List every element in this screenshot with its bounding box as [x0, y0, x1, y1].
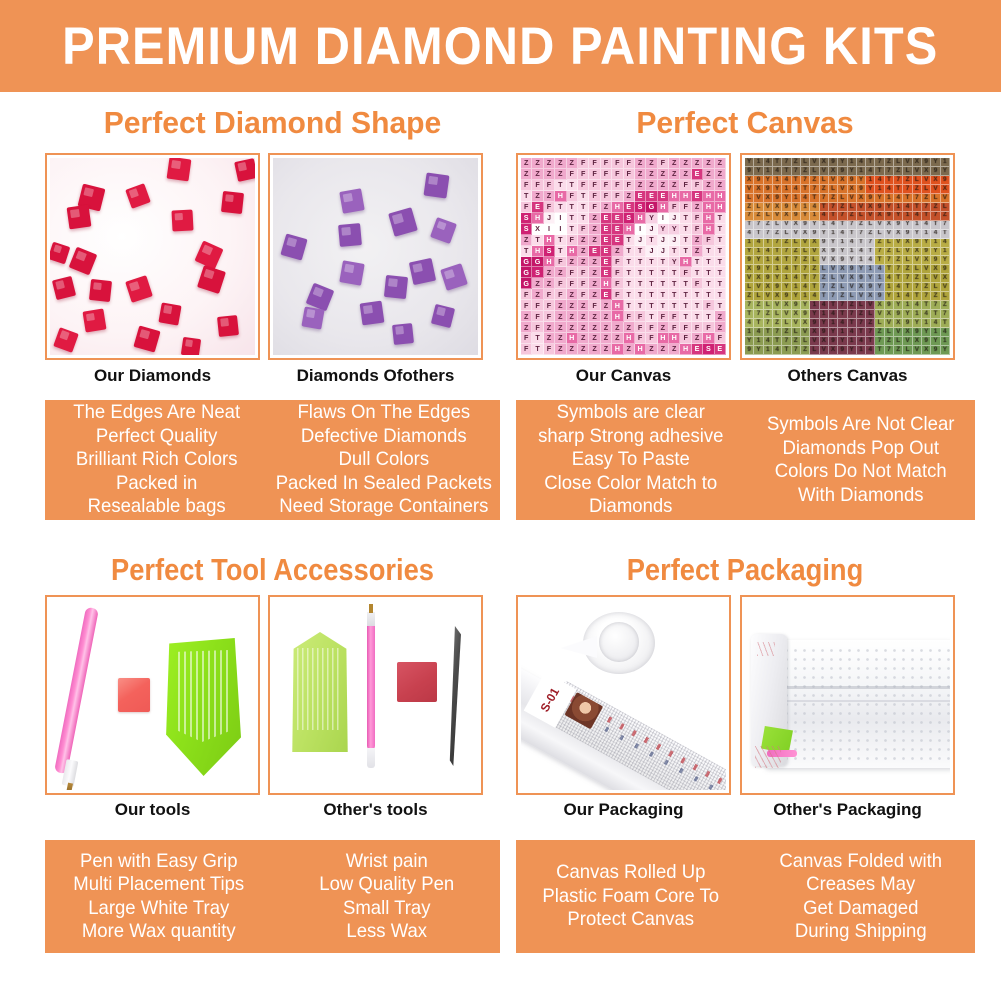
canvas-symbol-cell: 4 — [764, 158, 773, 167]
canvas-symbol-cell: F — [635, 322, 646, 333]
canvas-symbol-cell: F — [578, 224, 589, 235]
canvas-symbol-cell: Z — [555, 158, 566, 169]
canvas-symbol-cell: L — [931, 283, 940, 292]
canvas-symbol-cell: 1 — [894, 203, 903, 212]
canvas-symbol-cell: Z — [567, 344, 578, 355]
canvas-symbol-cell: Z — [838, 292, 847, 301]
canvas-symbol-cell: Z — [773, 230, 782, 239]
canvas-symbol-cell: H — [669, 191, 680, 202]
canvas-symbol-cell: 7 — [913, 194, 922, 203]
canvas-symbol-cell: X — [903, 328, 912, 337]
canvas-symbol-cell: S — [532, 267, 543, 278]
canvas-symbol-cell: H — [669, 333, 680, 344]
canvas-symbol-cell: F — [601, 191, 612, 202]
canvas-symbol-cell: T — [782, 167, 791, 176]
canvas-symbol-cell: Z — [764, 310, 773, 319]
canvas-symbol-cell: 7 — [810, 274, 819, 283]
canvas-symbol-cell: T — [680, 311, 691, 322]
canvas-symbol-cell: L — [801, 158, 810, 167]
canvas-symbol-cell: 9 — [903, 319, 912, 328]
canvas-symbol-cell: T — [715, 267, 726, 278]
panel-column-ours: Pen with Easy GripMulti Placement TipsLa… — [51, 840, 267, 953]
diamond-drill — [301, 306, 324, 329]
canvas-symbol-cell: 9 — [875, 203, 884, 212]
canvas-symbol-cell: L — [848, 292, 857, 301]
canvas-symbol-cell: Z — [532, 289, 543, 300]
canvas-symbol-cell: 1 — [838, 239, 847, 248]
canvas-symbol-cell: Z — [857, 310, 866, 319]
canvas-symbol-cell: T — [578, 202, 589, 213]
canvas-symbol-cell: 1 — [885, 283, 894, 292]
canvas-symbol-cell: Z — [692, 158, 703, 169]
canvas-symbol-cell: X — [754, 185, 763, 194]
canvas-symbol-cell: Y — [857, 265, 866, 274]
muddy-symbol-canvas-photo: Y14T7ZLVX9Y14T7ZLVX9Y19Y14T7ZLVX9Y14T7ZL… — [745, 158, 950, 355]
canvas-symbol-cell: Z — [820, 274, 829, 283]
canvas-symbol-cell: F — [658, 311, 669, 322]
canvas-symbol-cell: Z — [567, 257, 578, 268]
diamond-drill — [409, 258, 436, 285]
canvas-symbol-cell: Z — [555, 311, 566, 322]
canvas-symbol-cell: Y — [848, 256, 857, 265]
canvas-symbol-cell: 4 — [866, 346, 875, 355]
canvas-symbol-cell: T — [669, 300, 680, 311]
canvas-symbol-cell: 7 — [782, 158, 791, 167]
canvas-symbol-cell: Y — [764, 176, 773, 185]
canvas-symbol-cell: 4 — [931, 319, 940, 328]
canvas-symbol-cell: X — [913, 158, 922, 167]
canvas-symbol-cell: F — [646, 333, 657, 344]
canvas-symbol-cell: T — [745, 221, 754, 230]
canvas-symbol-cell: L — [754, 292, 763, 301]
canvas-symbol-cell: Z — [715, 169, 726, 180]
canvas-symbol-cell: 4 — [792, 274, 801, 283]
canvas-symbol-cell: Z — [820, 185, 829, 194]
canvas-symbol-cell: 7 — [922, 203, 931, 212]
canvas-symbol-cell: T — [848, 230, 857, 239]
canvas-symbol-cell: L — [903, 346, 912, 355]
canvas-symbol-cell: F — [521, 289, 532, 300]
canvas-symbol-cell: T — [829, 301, 838, 310]
canvas-symbol-cell: 7 — [941, 221, 950, 230]
canvas-symbol-cell: F — [635, 311, 646, 322]
canvas-symbol-cell: 4 — [848, 239, 857, 248]
canvas-symbol-cell: V — [903, 248, 912, 257]
canvas-symbol-cell: F — [521, 180, 532, 191]
canvas-symbol-cell: T — [680, 246, 691, 257]
canvas-symbol-cell: T — [782, 256, 791, 265]
canvas-symbol-cell: T — [941, 319, 950, 328]
canvas-symbol-cell: F — [624, 311, 635, 322]
canvas-symbol-cell: J — [635, 235, 646, 246]
canvas-symbol-cell: X — [829, 167, 838, 176]
canvas-symbol-cell: 9 — [810, 230, 819, 239]
canvas-symbol-cell: 9 — [866, 283, 875, 292]
canvas-symbol-cell: T — [866, 337, 875, 346]
canvas-symbol-cell: Z — [903, 265, 912, 274]
canvas-symbol-cell: V — [745, 185, 754, 194]
canvas-symbol-cell: G — [521, 257, 532, 268]
canvas-symbol-cell: Y — [754, 256, 763, 265]
canvas-symbol-cell: F — [567, 169, 578, 180]
canvas-symbol-cell: T — [567, 202, 578, 213]
canvas-symbol-cell: H — [567, 246, 578, 257]
canvas-symbol-cell: V — [866, 212, 875, 221]
canvas-symbol-cell: Z — [782, 328, 791, 337]
canvas-symbol-cell: F — [601, 180, 612, 191]
canvas-symbol-cell: 9 — [838, 167, 847, 176]
canvas-symbol-cell: 4 — [820, 301, 829, 310]
canvas-symbol-cell: 7 — [913, 283, 922, 292]
canvas-symbol-cell: G — [521, 267, 532, 278]
canvas-symbol-cell: 1 — [764, 346, 773, 355]
canvas-symbol-cell: E — [692, 169, 703, 180]
canvas-symbol-cell: V — [810, 248, 819, 257]
canvas-symbol-cell: T — [532, 344, 543, 355]
image-frame-our-canvas: ZZZZZFFFFFZZFZZZZZZZZZFFFFFFZZZZZEZZFFFT… — [516, 153, 731, 360]
canvas-symbol-cell: 7 — [875, 248, 884, 257]
canvas-symbol-cell: 4 — [801, 194, 810, 203]
canvas-symbol-cell: S — [703, 344, 714, 355]
canvas-symbol-cell: F — [601, 158, 612, 169]
canvas-symbol-cell: F — [567, 278, 578, 289]
canvas-symbol-cell: X — [866, 292, 875, 301]
canvas-symbol-cell: X — [885, 221, 894, 230]
canvas-symbol-cell: 4 — [894, 194, 903, 203]
diamond-drill — [158, 302, 181, 325]
canvas-symbol-cell: X — [782, 301, 791, 310]
image-frame-our-tools — [45, 595, 260, 795]
canvas-symbol-cell: Z — [578, 300, 589, 311]
canvas-symbol-cell: 7 — [792, 167, 801, 176]
canvas-symbol-cell: X — [810, 328, 819, 337]
canvas-symbol-cell: 1 — [857, 167, 866, 176]
canvas-symbol-cell: 1 — [941, 337, 950, 346]
canvas-symbol-cell: 9 — [829, 158, 838, 167]
canvas-symbol-cell: V — [792, 319, 801, 328]
panel-line: Creases May — [806, 873, 915, 897]
canvas-symbol-cell: Z — [555, 267, 566, 278]
canvas-symbol-cell: F — [544, 344, 555, 355]
canvas-symbol-cell: 1 — [913, 221, 922, 230]
canvas-symbol-cell: V — [801, 239, 810, 248]
canvas-symbol-cell: Y — [801, 212, 810, 221]
canvas-symbol-cell: Z — [578, 257, 589, 268]
canvas-symbol-cell: 7 — [820, 194, 829, 203]
panel-line: Resealable bags — [88, 495, 226, 519]
canvas-symbol-cell: F — [589, 169, 600, 180]
panel-line: Colors Do Not Match — [774, 460, 946, 484]
canvas-symbol-cell: 1 — [922, 230, 931, 239]
canvas-symbol-cell: H — [532, 246, 543, 257]
canvas-symbol-cell: E — [601, 267, 612, 278]
canvas-symbol-cell: T — [680, 224, 691, 235]
canvas-symbol-cell: 9 — [773, 283, 782, 292]
canvas-symbol-cell: L — [773, 221, 782, 230]
canvas-symbol-cell: G — [532, 257, 543, 268]
canvas-symbol-cell: X — [941, 185, 950, 194]
canvas-symbol-cell: X — [857, 283, 866, 292]
canvas-symbol-cell: 4 — [941, 239, 950, 248]
canvas-symbol-cell: 1 — [801, 292, 810, 301]
canvas-symbol-cell: T — [703, 289, 714, 300]
canvas-symbol-cell: X — [764, 283, 773, 292]
panel-line: During Shipping — [794, 920, 926, 944]
canvas-symbol-cell: H — [658, 333, 669, 344]
canvas-symbol-cell: E — [692, 191, 703, 202]
canvas-symbol-cell: T — [913, 292, 922, 301]
canvas-symbol-cell: Z — [532, 169, 543, 180]
canvas-symbol-cell: L — [810, 256, 819, 265]
canvas-symbol-cell: T — [885, 265, 894, 274]
canvas-symbol-cell: 1 — [848, 158, 857, 167]
canvas-symbol-cell: L — [820, 265, 829, 274]
canvas-symbol-cell: L — [857, 212, 866, 221]
canvas-symbol-cell: T — [715, 257, 726, 268]
diamond-drill — [339, 260, 364, 285]
canvas-symbol-cell: F — [601, 169, 612, 180]
canvas-symbol-cell: 9 — [894, 221, 903, 230]
canvas-symbol-cell: F — [692, 278, 703, 289]
canvas-symbol-cell: 7 — [792, 256, 801, 265]
canvas-symbol-cell: X — [885, 310, 894, 319]
canvas-symbol-cell: 9 — [931, 256, 940, 265]
canvas-symbol-cell: 1 — [885, 194, 894, 203]
canvas-symbol-cell: 1 — [848, 337, 857, 346]
canvas-symbol-cell: H — [624, 224, 635, 235]
canvas-symbol-cell: T — [624, 267, 635, 278]
canvas-symbol-cell: Y — [931, 337, 940, 346]
canvas-symbol-cell: L — [792, 239, 801, 248]
canvas-symbol-cell: T — [658, 278, 669, 289]
canvas-symbol-cell: 1 — [875, 274, 884, 283]
canvas-symbol-cell: 7 — [745, 301, 754, 310]
canvas-symbol-cell: Z — [875, 239, 884, 248]
canvas-symbol-cell: Y — [866, 185, 875, 194]
canvas-symbol-cell: 7 — [801, 176, 810, 185]
canvas-symbol-cell: Z — [567, 322, 578, 333]
canvas-symbol-cell: V — [885, 319, 894, 328]
image-frame-other-packaging — [740, 595, 955, 795]
canvas-symbol-cell: Z — [532, 191, 543, 202]
canvas-symbol-cell: F — [669, 311, 680, 322]
canvas-symbol-cell: S — [544, 246, 555, 257]
caption-other-tools: Other's tools — [268, 800, 483, 820]
canvas-symbol-cell: Z — [555, 169, 566, 180]
canvas-symbol-cell: 9 — [773, 194, 782, 203]
canvas-symbol-cell: Z — [601, 202, 612, 213]
canvas-symbol-cell: Z — [589, 235, 600, 246]
panel-line: sharp Strong adhesive — [538, 425, 723, 449]
canvas-symbol-cell: T — [848, 319, 857, 328]
canvas-symbol-cell: 7 — [773, 328, 782, 337]
canvas-symbol-cell: E — [612, 213, 623, 224]
canvas-symbol-cell: 9 — [764, 185, 773, 194]
canvas-symbol-cell: 7 — [773, 239, 782, 248]
canvas-symbol-cell: V — [764, 203, 773, 212]
canvas-symbol-cell: T — [646, 257, 657, 268]
canvas-symbol-cell: F — [680, 333, 691, 344]
canvas-symbol-cell: Y — [820, 230, 829, 239]
canvas-symbol-cell: Z — [692, 202, 703, 213]
canvas-symbol-cell: T — [715, 235, 726, 246]
canvas-symbol-cell: 9 — [922, 158, 931, 167]
canvas-symbol-cell: 9 — [941, 265, 950, 274]
canvas-symbol-cell: V — [903, 337, 912, 346]
canvas-symbol-cell: 9 — [894, 310, 903, 319]
canvas-symbol-cell: F — [578, 169, 589, 180]
canvas-symbol-cell: T — [715, 289, 726, 300]
canvas-symbol-cell: L — [773, 310, 782, 319]
canvas-symbol-cell: F — [532, 300, 543, 311]
canvas-symbol-cell: Z — [624, 344, 635, 355]
canvas-symbol-cell: 4 — [894, 283, 903, 292]
canvas-symbol-cell: T — [646, 278, 657, 289]
canvas-symbol-cell: H — [544, 235, 555, 246]
panel-line: Brilliant Rich Colors — [76, 448, 238, 472]
canvas-symbol-cell: 1 — [782, 185, 791, 194]
canvas-symbol-cell: Z — [521, 158, 532, 169]
canvas-symbol-cell: X — [922, 167, 931, 176]
canvas-symbol-cell: X — [922, 256, 931, 265]
panel-line: Symbols Are Not Clear — [767, 413, 954, 437]
canvas-symbol-cell: T — [885, 176, 894, 185]
canvas-symbol-cell: 9 — [857, 274, 866, 283]
canvas-symbol-cell: 1 — [792, 194, 801, 203]
canvas-symbol-cell: X — [754, 274, 763, 283]
canvas-symbol-cell: X — [838, 265, 847, 274]
canvas-symbol-cell: F — [578, 158, 589, 169]
canvas-symbol-cell: F — [567, 235, 578, 246]
canvas-symbol-cell: Z — [703, 180, 714, 191]
canvas-symbol-cell: Y — [658, 224, 669, 235]
canvas-symbol-cell: V — [922, 176, 931, 185]
canvas-symbol-cell: S — [521, 213, 532, 224]
canvas-symbol-cell: 9 — [754, 176, 763, 185]
canvas-symbol-cell: G — [646, 202, 657, 213]
canvas-symbol-cell: L — [885, 328, 894, 337]
canvas-symbol-cell: Y — [903, 221, 912, 230]
canvas-symbol-cell: F — [578, 180, 589, 191]
canvas-symbol-cell: E — [612, 224, 623, 235]
canvas-symbol-cell: 4 — [782, 176, 791, 185]
canvas-symbol-cell: 7 — [931, 212, 940, 221]
canvas-symbol-cell: T — [635, 246, 646, 257]
canvas-symbol-cell: T — [754, 230, 763, 239]
canvas-symbol-cell: 9 — [913, 328, 922, 337]
canvas-symbol-cell: Z — [885, 248, 894, 257]
canvas-symbol-cell: 4 — [801, 283, 810, 292]
page-title: PREMIUM DIAMOND PAINTING KITS — [62, 16, 938, 77]
canvas-symbol-cell: Y — [782, 283, 791, 292]
canvas-symbol-cell: Z — [903, 176, 912, 185]
canvas-symbol-cell: 1 — [941, 248, 950, 257]
canvas-symbol-cell: X — [903, 239, 912, 248]
panel-line: Wrist pain — [345, 850, 427, 874]
canvas-symbol-cell: T — [838, 310, 847, 319]
canvas-symbol-cell: 4 — [773, 256, 782, 265]
canvas-symbol-cell: 7 — [885, 256, 894, 265]
canvas-symbol-cell: T — [646, 267, 657, 278]
canvas-symbol-cell: Z — [754, 301, 763, 310]
canvas-symbol-cell: X — [792, 221, 801, 230]
canvas-symbol-cell: H — [680, 191, 691, 202]
canvas-symbol-cell: T — [913, 203, 922, 212]
canvas-symbol-cell: H — [612, 300, 623, 311]
canvas-symbol-cell: 1 — [820, 221, 829, 230]
canvas-symbol-cell: Z — [521, 322, 532, 333]
canvas-symbol-cell: L — [810, 167, 819, 176]
canvas-symbol-cell: 9 — [848, 265, 857, 274]
section-heading-canvas: Perfect Canvas — [522, 105, 968, 141]
canvas-symbol-cell: Y — [646, 213, 657, 224]
canvas-symbol-cell: T — [773, 248, 782, 257]
canvas-symbol-cell: X — [922, 346, 931, 355]
canvas-symbol-cell: F — [532, 180, 543, 191]
canvas-symbol-cell: 1 — [792, 283, 801, 292]
canvas-symbol-cell: L — [838, 283, 847, 292]
canvas-symbol-cell: 4 — [810, 292, 819, 301]
canvas-symbol-cell: Z — [658, 169, 669, 180]
canvas-symbol-cell: S — [624, 213, 635, 224]
canvas-symbol-cell: Z — [589, 333, 600, 344]
canvas-symbol-cell: 7 — [820, 283, 829, 292]
canvas-symbol-cell: 1 — [922, 319, 931, 328]
canvas-symbol-cell: F — [612, 169, 623, 180]
header-banner: PREMIUM DIAMOND PAINTING KITS — [0, 0, 1001, 92]
canvas-symbol-cell: Y — [885, 203, 894, 212]
panel-line: Dull Colors — [339, 448, 430, 472]
diamond-drill — [89, 279, 112, 302]
canvas-symbol-cell: V — [857, 203, 866, 212]
canvas-symbol-cell: I — [658, 213, 669, 224]
canvas-symbol-cell: F — [532, 322, 543, 333]
canvas-symbol-cell: T — [658, 267, 669, 278]
canvas-symbol-cell: 7 — [903, 185, 912, 194]
canvas-symbol-cell: X — [894, 230, 903, 239]
canvas-symbol-cell: V — [810, 337, 819, 346]
canvas-symbol-cell: E — [658, 191, 669, 202]
canvas-symbol-cell: 7 — [875, 158, 884, 167]
canvas-symbol-cell: Z — [589, 224, 600, 235]
canvas-symbol-cell: 4 — [913, 301, 922, 310]
canvas-symbol-cell: 4 — [866, 167, 875, 176]
panel-line: Symbols are clear — [557, 401, 705, 425]
canvas-symbol-cell: Z — [745, 292, 754, 301]
canvas-symbol-cell: T — [555, 202, 566, 213]
text-panel-packaging: Canvas Rolled UpPlastic Foam Core ToProt… — [516, 840, 975, 953]
canvas-symbol-cell: V — [838, 274, 847, 283]
canvas-symbol-cell: 7 — [829, 203, 838, 212]
caption-our-canvas: Our Canvas — [516, 366, 731, 386]
canvas-symbol-cell: T — [635, 289, 646, 300]
canvas-symbol-cell: V — [866, 301, 875, 310]
panel-line: Packed in — [116, 472, 197, 496]
canvas-symbol-cell: V — [941, 283, 950, 292]
canvas-symbol-cell: X — [866, 203, 875, 212]
canvas-symbol-cell: Z — [715, 311, 726, 322]
canvas-symbol-cell: Z — [612, 246, 623, 257]
canvas-symbol-cell: Z — [612, 333, 623, 344]
image-frame-other-canvas: Y14T7ZLVX9Y14T7ZLVX9Y19Y14T7ZLVX9Y14T7ZL… — [740, 153, 955, 360]
canvas-symbol-cell: T — [680, 278, 691, 289]
canvas-symbol-cell: H — [635, 213, 646, 224]
canvas-symbol-cell: 1 — [866, 176, 875, 185]
canvas-symbol-cell: V — [857, 292, 866, 301]
canvas-symbol-cell: T — [555, 235, 566, 246]
canvas-symbol-cell: 4 — [848, 328, 857, 337]
canvas-symbol-cell: 7 — [857, 319, 866, 328]
